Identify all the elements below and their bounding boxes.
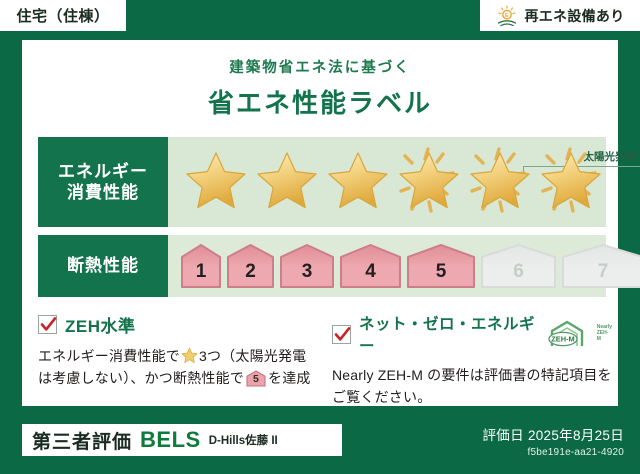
insulation-level-1: 1 xyxy=(180,243,222,289)
zeh-standard-block: ZEH水準 エネルギー消費性能で 3つ（太陽光発電は考慮しない）、かつ断熱性能で… xyxy=(38,312,318,389)
energy-stars-row xyxy=(168,137,606,227)
net-zero-energy-title: ネット・ゼロ・エネルギー xyxy=(359,312,536,356)
zeh-standard-body: エネルギー消費性能で 3つ（太陽光発電は考慮しない）、かつ断熱性能で 5を達成 xyxy=(38,346,318,389)
insulation-level-number: 2 xyxy=(245,261,256,289)
energy-star-solar xyxy=(537,145,605,219)
energy-star xyxy=(182,145,250,219)
insulation-level-number: 3 xyxy=(302,261,313,289)
inline-star-icon xyxy=(181,347,198,364)
document-id: f5be191e-aa21-4920 xyxy=(482,447,624,458)
net-zero-energy-block: ネット・ゼロ・エネルギー ZEH-M Nearly ZEH-M Nearly Z… xyxy=(332,312,612,408)
evaluation-date-label: 評価日 xyxy=(482,428,523,443)
sun-renewable-icon: E xyxy=(495,5,519,27)
insulation-level-number: 4 xyxy=(365,261,376,289)
badge-building-type-label: 住宅（住棟） xyxy=(16,5,109,26)
energy-performance-panel: エネルギー 消費性能 太陽光発電(自家消費)分 xyxy=(38,137,606,227)
energy-performance-key: エネルギー 消費性能 xyxy=(38,137,168,227)
insulation-level-3: 3 xyxy=(279,243,335,289)
insulation-houses-row: 1 2 xyxy=(168,235,606,297)
property-name: D-Hills佐藤 II xyxy=(209,432,278,448)
insulation-key-label: 断熱性能 xyxy=(67,255,139,276)
insulation-level-4: 4 xyxy=(339,243,402,289)
title-subtitle: 建築物省エネ法に基づく xyxy=(0,56,640,77)
svg-text:E: E xyxy=(505,13,509,19)
zeh-standard-checkbox[interactable] xyxy=(38,315,57,334)
insulation-level-number: 5 xyxy=(436,261,447,289)
zeh-standard-header: ZEH水準 xyxy=(38,312,318,337)
badge-building-type: 住宅（住棟） xyxy=(0,0,126,31)
title-main: 省エネ性能ラベル xyxy=(0,83,640,120)
bels-evaluation-bar: 第三者評価 BELS D-Hills佐藤 II xyxy=(22,424,342,456)
badge-renewable-energy-label: 再エネ設備あり xyxy=(524,6,624,26)
insulation-level-number: 6 xyxy=(513,261,524,289)
insulation-level-5: 5 xyxy=(406,243,476,289)
badge-renewable-energy: E 再エネ設備あり xyxy=(480,0,640,31)
insulation-performance-body: 1 2 xyxy=(168,235,606,297)
zeh-standard-text-1: エネルギー消費性能で xyxy=(38,348,180,364)
insulation-performance-key: 断熱性能 xyxy=(38,235,168,297)
energy-star-solar xyxy=(466,145,534,219)
insulation-level-7: 7 xyxy=(561,243,640,289)
net-zero-energy-checkbox[interactable] xyxy=(332,325,351,344)
zeh-m-logo-icon: ZEH-M xyxy=(546,319,588,349)
evaluation-date: 評価日 2025年8月25日 xyxy=(482,424,624,444)
energy-performance-label: 住宅（住棟） E 再エネ設備あり 建築物省エネ法に基づく 省エネ性能ラベル xyxy=(0,0,640,474)
bels-evaluation-label: 第三者評価 xyxy=(32,427,132,454)
evaluation-date-block: 評価日 2025年8月25日 f5be191e-aa21-4920 xyxy=(482,424,624,458)
net-zero-energy-body: Nearly ZEH-M の要件は評価書の特記項目をご覧ください。 xyxy=(332,365,612,408)
zeh-m-sub-line2: ZEH-M xyxy=(597,331,612,343)
zeh-standard-text-3: を達成 xyxy=(268,370,311,386)
insulation-level-2: 2 xyxy=(226,243,275,289)
insulation-performance-panel: 断熱性能 1 xyxy=(38,235,606,297)
energy-star xyxy=(324,145,392,219)
evaluation-date-value: 2025年8月25日 xyxy=(528,428,624,443)
insulation-level-6: 6 xyxy=(480,243,557,289)
energy-performance-body: 太陽光発電(自家消費)分 xyxy=(168,137,606,227)
energy-key-line1: エネルギー xyxy=(58,161,148,182)
zeh-m-logo-sublabel: Nearly ZEH-M xyxy=(597,325,612,342)
svg-text:ZEH-M: ZEH-M xyxy=(551,335,574,344)
zeh-standard-title: ZEH水準 xyxy=(65,312,136,337)
energy-star-solar xyxy=(395,145,463,219)
inline-house-badge: 5 xyxy=(246,370,266,387)
net-zero-energy-header: ネット・ゼロ・エネルギー ZEH-M Nearly ZEH-M xyxy=(332,312,612,356)
page-title: 建築物省エネ法に基づく 省エネ性能ラベル xyxy=(0,56,640,120)
energy-key-line2: 消費性能 xyxy=(67,182,139,203)
insulation-level-number: 7 xyxy=(598,261,609,289)
energy-star xyxy=(253,145,321,219)
bels-logo-text: BELS xyxy=(140,427,201,453)
insulation-level-number: 1 xyxy=(196,261,207,289)
inline-house-number: 5 xyxy=(246,371,266,387)
